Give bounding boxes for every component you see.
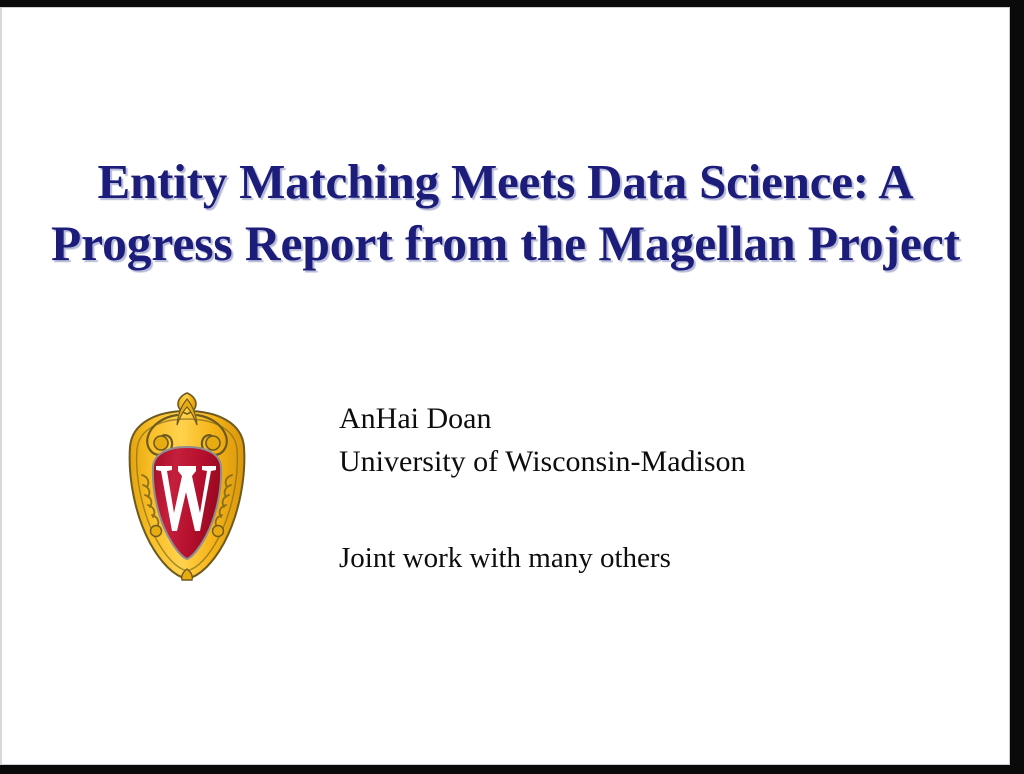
crest-left-rosette: [151, 526, 162, 537]
slide-title-line-1: Entity Matching Meets Data Science: A: [2, 151, 1009, 213]
uw-madison-crest-logo: [120, 391, 254, 581]
crest-right-volute-eye: [206, 436, 220, 450]
slide-title: Entity Matching Meets Data Science: A Pr…: [2, 151, 1009, 275]
frame-top-bar: [0, 0, 1024, 7]
author-name: AnHai Doan: [339, 397, 939, 440]
slide-canvas: Entity Matching Meets Data Science: A Pr…: [0, 7, 1010, 765]
credits-text: Joint work with many others: [339, 539, 939, 577]
credits-block: Joint work with many others: [339, 539, 939, 577]
frame-right-bar: [1010, 0, 1024, 774]
crest-icon: [120, 391, 254, 581]
crest-left-volute-eye: [154, 436, 168, 450]
slide-title-line-2: Progress Report from the Magellan Projec…: [2, 213, 1009, 275]
crest-right-rosette: [213, 526, 224, 537]
author-block: AnHai Doan University of Wisconsin-Madis…: [339, 397, 939, 483]
slide-frame: Entity Matching Meets Data Science: A Pr…: [0, 0, 1024, 774]
author-affiliation: University of Wisconsin-Madison: [339, 440, 939, 483]
frame-bottom-bar: [0, 765, 1024, 774]
